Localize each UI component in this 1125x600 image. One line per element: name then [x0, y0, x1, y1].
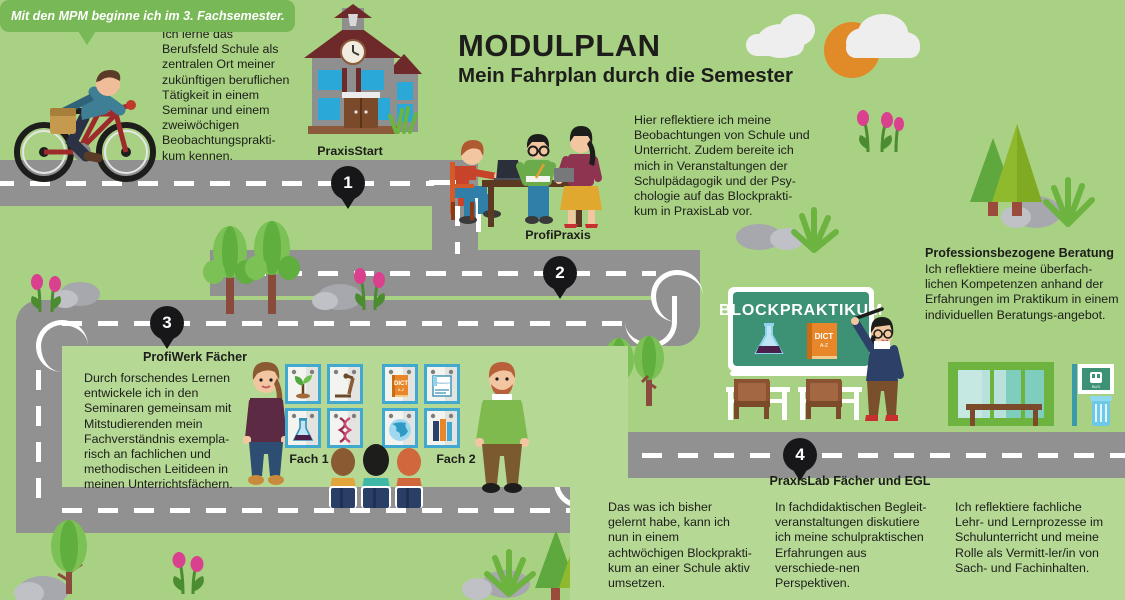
classroom-icon: BLOCKPRAKTIKUM DICT A-Z — [716, 283, 908, 423]
subject-label-fach-2: Fach 2 — [424, 452, 488, 466]
subject-label-fach-1: Fach 1 — [277, 452, 341, 466]
station-marker-4-label: 4 — [795, 445, 804, 465]
rock-icon-mid-2 — [312, 292, 338, 310]
road-dash-final — [606, 453, 1125, 458]
station-3-title: ProfiWerk Fächer — [80, 350, 310, 364]
station-marker-1-label: 1 — [343, 173, 352, 193]
station-marker-3[interactable]: 3 — [150, 306, 184, 340]
caption-profipraxis: ProfiPraxis — [508, 228, 608, 242]
bus-stop-icon: BUS — [944, 360, 1124, 436]
tree-pair-icon-top — [200, 210, 310, 320]
seated-students-icon — [326, 448, 426, 508]
station-3-text: Durch forschendes Lernen entwickele ich … — [84, 371, 249, 493]
station-marker-1[interactable]: 1 — [331, 166, 365, 200]
speech-bubble-text: Mit den MPM beginne ich im 3. Fachsemest… — [11, 9, 285, 23]
tree-icon-bottom-left — [36, 520, 106, 600]
station-1-text: Ich lerne das Berufsfeld Schule als zent… — [162, 27, 290, 164]
station-4-text-col-3: Ich reflektiere fachliche Lehr- und Lern… — [955, 500, 1105, 576]
svg-text:A-Z: A-Z — [398, 387, 405, 392]
station-4-text-col-2: In fachdidaktischen Begleit-veranstaltun… — [775, 500, 930, 591]
flower-icon-bottom — [166, 548, 210, 598]
page-subtitle: Mein Fahrplan durch die Semester — [458, 64, 793, 88]
page-title: MODULPLAN — [458, 28, 661, 64]
station-2-text: Hier reflektiere ich meine Beobachtungen… — [634, 113, 814, 219]
seminar-group-icon — [448, 110, 618, 228]
station-marker-2-label: 2 — [555, 263, 564, 283]
subject-tiles-fach-1 — [285, 364, 363, 448]
flower-icon-mid — [348, 266, 390, 312]
station-4-title: PraxisLab Fächer und EGL — [600, 474, 1100, 488]
station-marker-4[interactable]: 4 — [783, 438, 817, 472]
cyclist-icon — [12, 64, 152, 184]
flower-icon-left — [26, 272, 68, 314]
speech-bubble: Mit den MPM beginne ich im 3. Fachsemest… — [0, 0, 295, 32]
beratung-title: Professionsbezogene Beratung — [925, 246, 1125, 260]
svg-text:Transcript: Transcript — [436, 381, 449, 385]
station-4-text-col-1: Das was ich bisher gelernt habe, kann ic… — [608, 500, 753, 591]
beratung-text: Ich reflektiere meine überfach-lichen Ko… — [925, 262, 1121, 323]
station-marker-3-label: 3 — [162, 313, 171, 333]
grass-tuft-icon-bottom — [480, 548, 538, 596]
svg-text:BUS: BUS — [1092, 384, 1101, 389]
grass-tuft-icon-right — [1040, 176, 1098, 226]
road-dash-fourth — [62, 508, 580, 513]
infographic-canvas: Mit den MPM beginne ich im 3. Fachsemest… — [0, 0, 1125, 600]
road-dash-vert-3 — [36, 370, 41, 510]
caption-praxisstart: PraxisStart — [300, 144, 400, 158]
school-building-icon — [298, 4, 423, 144]
teacher-man-icon — [474, 356, 530, 498]
svg-text:DICT: DICT — [815, 332, 834, 341]
road-dash-third — [62, 321, 628, 326]
svg-text:A-Z: A-Z — [820, 343, 828, 349]
flower-icon-topright — [850, 106, 910, 154]
station-marker-2[interactable]: 2 — [543, 256, 577, 290]
subject-tiles-fach-2: DICT A-Z Transcript — [382, 364, 460, 448]
